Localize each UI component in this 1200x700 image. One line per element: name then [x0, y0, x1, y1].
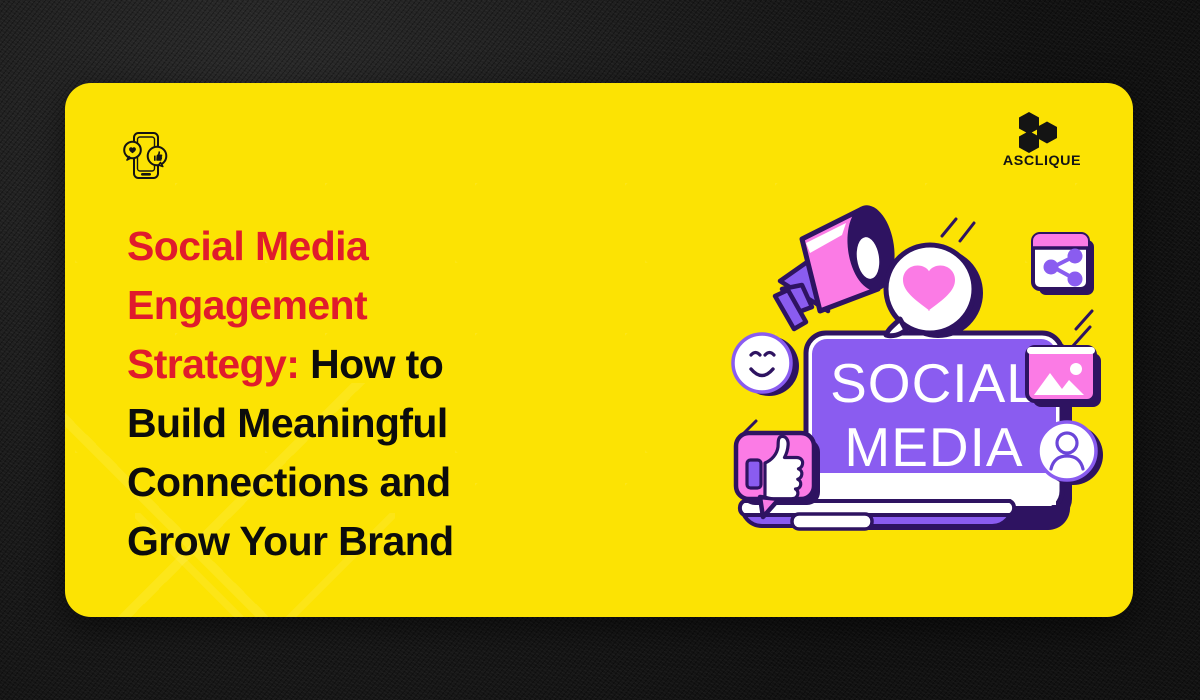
three-hexagons-icon — [1012, 111, 1072, 155]
headline-line-4: Build Meaningful — [127, 394, 597, 453]
headline-line-2: Engagement — [127, 276, 597, 335]
brand-logo: ASCLIQUE — [999, 111, 1085, 168]
screen-text-line-1: SOCIAL — [830, 352, 1038, 414]
share-card-icon — [1033, 234, 1094, 295]
page-title: Social Media Engagement Strategy: How to… — [127, 217, 597, 571]
smiley-face-icon — [733, 334, 799, 396]
heart-speech-bubble-icon — [886, 245, 983, 338]
headline-line-6: Grow Your Brand — [127, 512, 597, 571]
headline-line-5: Connections and — [127, 453, 597, 512]
logo-wordmark: ASCLIQUE — [996, 153, 1087, 168]
phone-engagement-icon — [123, 130, 169, 182]
screenshot-stage: ASCLIQUE Social Media Engagement Strateg… — [0, 0, 1200, 700]
screen-text-line-2: MEDIA — [844, 416, 1023, 478]
photo-card-icon — [1027, 347, 1101, 407]
headline-line-1: Social Media — [127, 217, 597, 276]
banner-card: ASCLIQUE Social Media Engagement Strateg… — [65, 83, 1133, 617]
headline-line-3: Strategy: How to — [127, 335, 597, 394]
social-media-illustration: SOCIAL MEDIA — [720, 201, 1120, 601]
megaphone-icon — [775, 202, 900, 329]
